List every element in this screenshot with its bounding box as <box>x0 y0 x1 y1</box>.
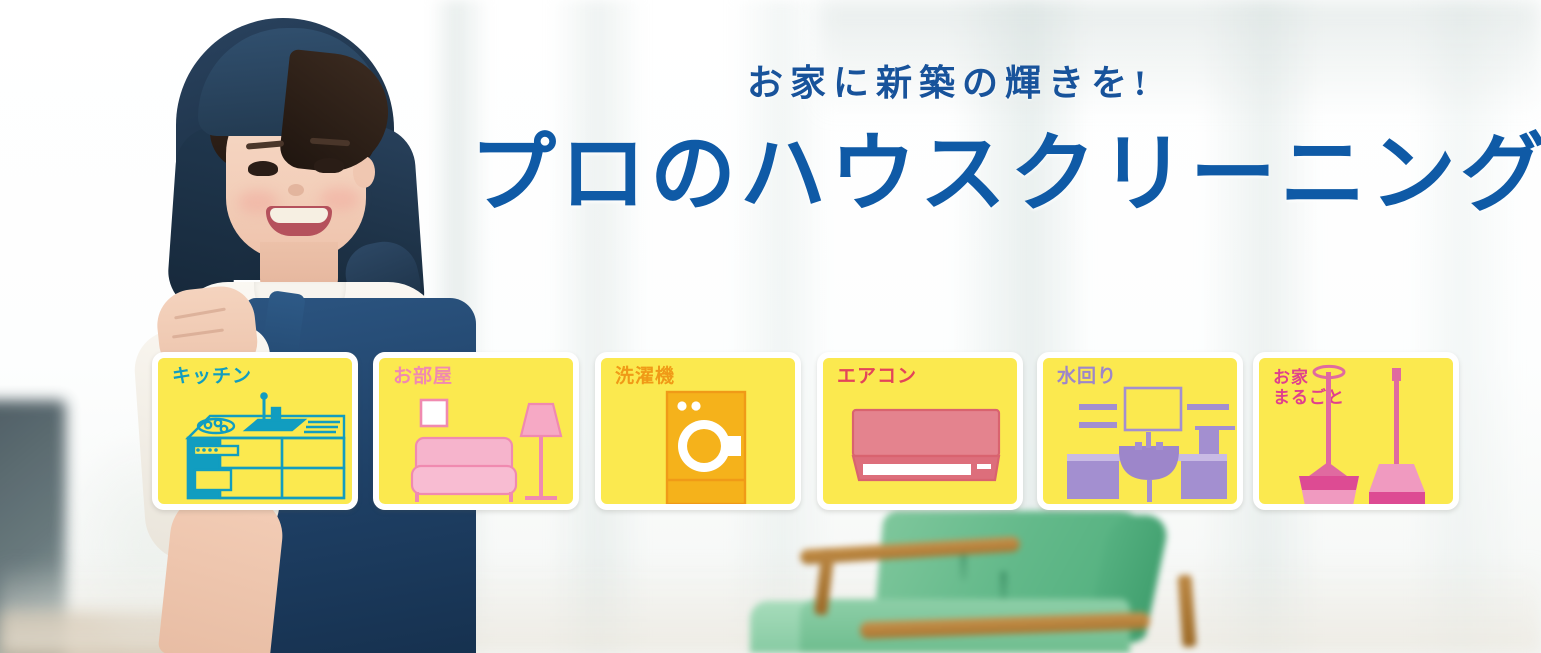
cleaning-staff-photo <box>48 6 478 653</box>
service-card-kitchen[interactable]: キッチン <box>152 352 358 510</box>
broom-dustpan-icon <box>1259 358 1453 504</box>
service-card-whole-house[interactable]: お家 まるごと <box>1253 352 1459 510</box>
washbasin-icon <box>1043 358 1237 504</box>
washing-machine-icon <box>601 358 795 504</box>
sub-headline: お家に新築の輝きを! <box>470 62 1430 105</box>
service-card-room[interactable]: お部屋 <box>373 352 579 510</box>
service-card-aircon[interactable]: エアコン <box>817 352 1023 510</box>
headline-block: お家に新築の輝きを! プロのハウスクリーニング <box>470 62 1430 220</box>
service-card-washer[interactable]: 洗濯機 <box>595 352 801 510</box>
kitchen-counter-icon <box>158 358 352 504</box>
green-armchair <box>760 505 1280 653</box>
service-category-list: キッチン <box>0 352 1541 517</box>
sofa-icon <box>379 358 573 504</box>
main-headline: プロのハウスクリーニング <box>470 129 1430 220</box>
service-card-water[interactable]: 水回り <box>1037 352 1243 510</box>
hero-banner: お家に新築の輝きを! プロのハウスクリーニング キッチン <box>0 0 1541 653</box>
air-conditioner-icon <box>823 358 1017 504</box>
